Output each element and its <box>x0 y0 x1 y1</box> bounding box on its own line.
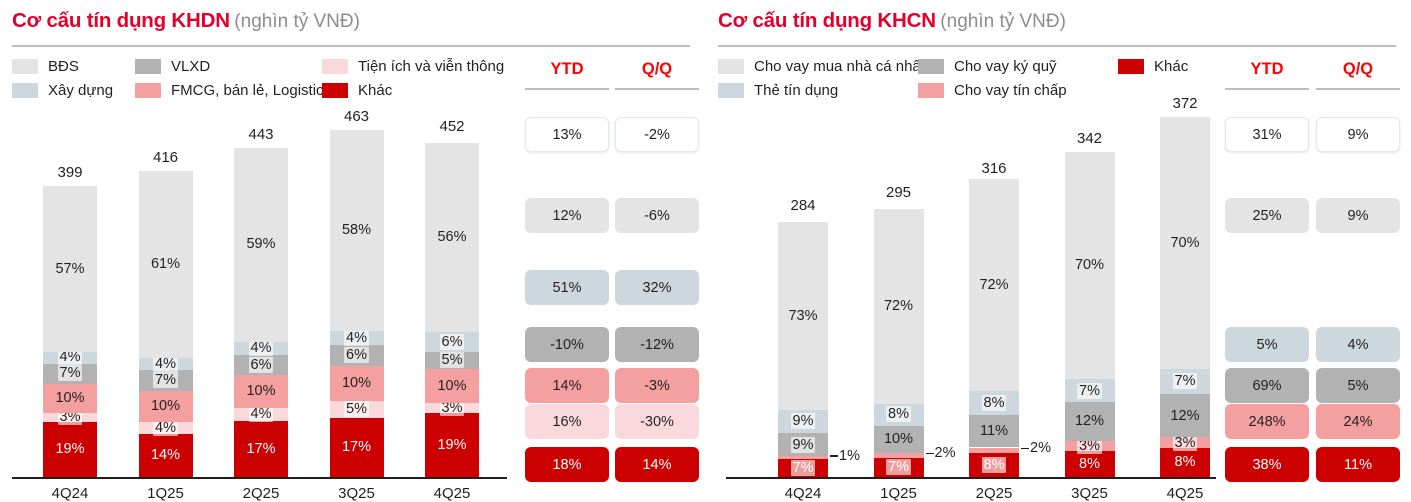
bar-segment[interactable]: 19% <box>425 413 479 477</box>
growth-badge[interactable]: 51% <box>525 270 609 305</box>
bar-segment[interactable]: 7% <box>43 364 97 384</box>
growth-badge[interactable]: 32% <box>615 270 699 305</box>
bar-segment-value: 1 <box>839 448 847 464</box>
growth-badge[interactable]: 5% <box>1316 368 1400 403</box>
growth-badge[interactable]: 12% <box>525 198 609 233</box>
bar-segment[interactable]: 4% <box>234 408 288 421</box>
bar-segment-value-wrap: 12% <box>1075 414 1104 429</box>
bar-segment-callout: 1% <box>830 448 860 464</box>
growth-badge[interactable]: 4% <box>1316 327 1400 362</box>
bar-column[interactable]: 8%3%12%7%70% <box>1065 152 1115 477</box>
bar-segment[interactable]: 10% <box>43 384 97 413</box>
bar-segment-value-wrap: 8% <box>982 396 1007 411</box>
bar-total-label: 284 <box>756 197 850 214</box>
bar-segment-value-wrap: 9% <box>791 438 816 453</box>
bar-segment-callout: 2% <box>926 445 956 461</box>
bar-segment-value-wrap: 70% <box>1170 236 1199 251</box>
growth-column-header: Q/Q <box>1313 60 1403 79</box>
x-axis-tick-label: 2Q25 <box>212 485 310 502</box>
bar-total-label: 399 <box>21 164 119 181</box>
growth-badge-value: 69% <box>1252 378 1281 394</box>
bar-segment[interactable]: 72% <box>969 179 1019 391</box>
growth-badge[interactable]: 69% <box>1225 368 1309 403</box>
growth-badge[interactable]: -12% <box>615 327 699 362</box>
growth-badge-value: -2% <box>644 127 670 143</box>
bar-segment-value: 4% <box>344 330 369 346</box>
bar-segment-value-wrap: 12% <box>1170 409 1199 424</box>
bar-segment-value-wrap: 19% <box>437 438 466 453</box>
bar-segment[interactable]: 9% <box>778 410 828 433</box>
bar-segment-value-wrap: 10% <box>342 376 371 391</box>
bar-segment-value-wrap: 14% <box>151 448 180 463</box>
bar-segment-value-wrap: 7% <box>58 366 83 381</box>
bar-segment[interactable]: 8% <box>969 391 1019 415</box>
growth-badge-value: 51% <box>552 280 581 296</box>
bar-segment-value: 4% <box>153 356 178 372</box>
bar-segment[interactable]: 6% <box>425 332 479 352</box>
bar-segment[interactable]: 59% <box>234 148 288 342</box>
bar-segment[interactable]: 10% <box>139 391 193 422</box>
bar-segment[interactable]: 12% <box>1160 394 1210 437</box>
bar-segment[interactable]: 7% <box>1160 369 1210 394</box>
bar-segment-value-wrap: 5% <box>344 402 369 417</box>
growth-badge[interactable]: 18% <box>525 447 609 482</box>
bar-segment[interactable]: 73% <box>778 222 828 410</box>
bar-segment-value-wrap: 4% <box>249 407 274 422</box>
bar-column[interactable]: 7%9%9%73% <box>778 219 828 477</box>
bar-segment-value: 7% <box>1077 383 1102 399</box>
bar-segment-value: 6% <box>344 347 369 363</box>
bar-total-label: 452 <box>403 118 501 135</box>
bar-total-label: 316 <box>947 160 1041 177</box>
growth-badge[interactable]: 248% <box>1225 404 1309 439</box>
growth-badge-value: 32% <box>642 280 671 296</box>
bar-segment-value-wrap: 10% <box>246 384 275 399</box>
bar-segment[interactable]: 4% <box>139 422 193 434</box>
x-axis-tick-label: 4Q24 <box>21 485 119 502</box>
bar-segment-value-wrap: 4% <box>58 350 83 365</box>
panel-khdn: Cơ cấu tín dụng KHDN (nghìn tỷ VNĐ)BĐSXâ… <box>0 0 705 502</box>
bar-segment-value-wrap: 19% <box>55 442 84 457</box>
bar-segment-value-wrap: 4% <box>153 357 178 372</box>
bar-column[interactable]: 14%4%10%7%4%61% <box>139 171 193 477</box>
bar-segment[interactable]: 5% <box>330 401 384 418</box>
growth-badge-value: 12% <box>552 208 581 224</box>
bar-segment-value: 4% <box>153 420 178 436</box>
bar-segment-value-wrap: 10% <box>437 379 466 394</box>
growth-badge[interactable]: 16% <box>525 404 609 439</box>
growth-badge[interactable]: -2% <box>615 117 699 152</box>
growth-badge[interactable]: -6% <box>615 198 699 233</box>
growth-column-header: YTD <box>1222 60 1312 79</box>
growth-badge-value: -6% <box>644 208 670 224</box>
bar-segment[interactable]: 19% <box>43 422 97 477</box>
bar-segment-value-wrap: 72% <box>979 278 1008 293</box>
bar-segment[interactable]: 4% <box>234 342 288 355</box>
growth-column-divider <box>615 88 699 90</box>
bar-segment-value-wrap: 4% <box>249 341 274 356</box>
x-axis-tick-label: 4Q25 <box>403 485 501 502</box>
bar-segment[interactable]: 7% <box>874 458 924 477</box>
bar-segment[interactable]: 10% <box>425 369 479 403</box>
growth-badge-value: 18% <box>552 457 581 473</box>
bar-segment-value-wrap: 4% <box>153 421 178 436</box>
bar-segment-value: 7% <box>1173 373 1198 389</box>
bar-segment[interactable]: 8% <box>969 453 1019 477</box>
bar-segment-value: 2 <box>1030 440 1038 456</box>
bar-segment-value: 8% <box>886 406 911 422</box>
bar-segment-value: 8% <box>982 395 1007 411</box>
bar-segment-value: 9% <box>791 413 816 429</box>
bar-segment-value-wrap: 17% <box>342 440 371 455</box>
bar-segment-value-wrap: 6% <box>249 358 274 373</box>
bar-segment-value-wrap: 8% <box>1175 455 1196 470</box>
x-axis-tick-label: 3Q25 <box>308 485 406 502</box>
growth-badge-value: -10% <box>550 337 584 353</box>
bar-column[interactable]: 17%5%10%6%4%58% <box>330 130 384 477</box>
bar-segment[interactable]: 17% <box>330 418 384 477</box>
bar-segment[interactable]: 3% <box>425 403 479 413</box>
bar-segment-callout: 2% <box>1021 440 1051 456</box>
bar-segment-value: 7% <box>153 372 178 388</box>
growth-column-divider <box>1316 88 1400 90</box>
bar-segment[interactable]: 10% <box>874 426 924 453</box>
bar-segment[interactable] <box>969 448 1019 454</box>
bar-segment-value-wrap: 4% <box>344 331 369 346</box>
x-axis-tick-label: 2Q25 <box>947 485 1041 502</box>
bar-segment-value: 4% <box>249 340 274 356</box>
growth-badge[interactable]: 31% <box>1225 117 1309 152</box>
bar-segment-value: 2 <box>935 445 943 461</box>
x-axis-line <box>726 477 1216 479</box>
x-axis-tick-label: 4Q25 <box>1138 485 1232 502</box>
growth-badge[interactable]: 9% <box>1316 117 1400 152</box>
growth-badge[interactable]: 24% <box>1316 404 1400 439</box>
bar-segment-value-wrap: 8% <box>982 458 1007 473</box>
bar-segment[interactable]: 7% <box>139 370 193 391</box>
growth-badge-value: 5% <box>1257 337 1278 353</box>
bar-total-label: 443 <box>212 126 310 143</box>
bar-segment[interactable]: 7% <box>1065 379 1115 402</box>
bar-segment[interactable]: 8% <box>1065 451 1115 477</box>
x-axis-tick-label: 4Q24 <box>756 485 850 502</box>
bar-segment[interactable]: 6% <box>234 355 288 375</box>
growth-badge[interactable]: -3% <box>615 368 699 403</box>
bar-segment[interactable]: 3% <box>43 413 97 422</box>
bar-segment-value: 7% <box>58 365 83 381</box>
bar-segment[interactable]: 8% <box>1160 448 1210 477</box>
growth-column-divider <box>525 88 609 90</box>
bar-segment-value-wrap: 8% <box>1079 457 1100 472</box>
growth-badge[interactable]: 25% <box>1225 198 1309 233</box>
growth-badge-value: 24% <box>1343 414 1372 430</box>
growth-badge-value: 31% <box>1252 127 1281 143</box>
bar-segment-value-wrap: 61% <box>151 257 180 272</box>
bar-segment[interactable]: 12% <box>1065 402 1115 441</box>
bar-segment-value-wrap: 6% <box>440 335 465 350</box>
bar-column[interactable]: 8%3%12%7%70% <box>1160 117 1210 477</box>
bar-segment-value-wrap: 7% <box>1077 384 1102 399</box>
bar-segment-value-wrap: 56% <box>437 230 466 245</box>
bar-segment-value-wrap: 70% <box>1075 258 1104 273</box>
growth-badge-value: 38% <box>1252 457 1281 473</box>
growth-badge[interactable]: 14% <box>525 368 609 403</box>
growth-badge-value: 25% <box>1252 208 1281 224</box>
bar-segment[interactable]: 56% <box>425 143 479 332</box>
bar-segment[interactable]: 9% <box>778 433 828 456</box>
bar-segment[interactable]: 57% <box>43 186 97 352</box>
x-axis-tick-label: 1Q25 <box>852 485 946 502</box>
growth-badge[interactable]: 5% <box>1225 327 1309 362</box>
growth-badge-value: -30% <box>640 414 674 430</box>
callout-leader-line <box>830 455 838 457</box>
bar-total-label: 295 <box>852 184 946 201</box>
growth-badge-value: 4% <box>1348 337 1369 353</box>
bar-column[interactable]: 17%4%10%6%4%59% <box>234 148 288 478</box>
bar-segment-value-wrap: 10% <box>55 391 84 406</box>
growth-badge[interactable]: 9% <box>1316 198 1400 233</box>
growth-badge-value: -12% <box>640 337 674 353</box>
bar-segment-value: 9% <box>791 437 816 453</box>
growth-badge[interactable]: -30% <box>615 404 699 439</box>
bar-segment-value-wrap: 10% <box>151 399 180 414</box>
bar-segment-value: 8% <box>982 457 1007 473</box>
growth-badge-value: 13% <box>552 127 581 143</box>
bar-segment[interactable]: 5% <box>425 352 479 369</box>
growth-badge-value: 14% <box>552 378 581 394</box>
callout-leader-line <box>926 453 934 455</box>
growth-badge[interactable]: 13% <box>525 117 609 152</box>
bar-segment-value-wrap: 58% <box>342 223 371 238</box>
bar-column[interactable]: 19%3%10%7%4%57% <box>43 186 97 477</box>
bar-segment[interactable]: 14% <box>139 434 193 477</box>
growth-column-header: Q/Q <box>612 60 702 79</box>
growth-column-header: YTD <box>522 60 612 79</box>
growth-badge-value: 14% <box>642 457 671 473</box>
bar-segment-value-wrap: 59% <box>246 237 275 252</box>
bar-segment[interactable]: 8% <box>874 404 924 426</box>
bar-segment-value-wrap: 9% <box>791 414 816 429</box>
x-axis-line <box>12 477 507 479</box>
growth-badge-value: 9% <box>1348 127 1369 143</box>
bar-segment-value: 4% <box>249 406 274 422</box>
bar-segment[interactable]: 11% <box>969 415 1019 447</box>
bar-total-label: 372 <box>1138 95 1232 112</box>
bar-segment-value-wrap: 6% <box>344 348 369 363</box>
bar-segment-value-wrap: 10% <box>884 432 913 447</box>
bar-segment[interactable]: 17% <box>234 421 288 477</box>
x-axis-tick-label: 3Q25 <box>1043 485 1137 502</box>
bar-segment-value-wrap: 3% <box>1173 436 1198 451</box>
bar-segment-value-wrap: 72% <box>884 299 913 314</box>
bar-segment-value-wrap: 11% <box>980 424 1008 439</box>
bar-segment[interactable]: 58% <box>330 130 384 331</box>
bar-total-label: 342 <box>1043 130 1137 147</box>
bar-segment-value-wrap: 7% <box>153 373 178 388</box>
bar-segment[interactable]: 72% <box>874 209 924 404</box>
bar-segment[interactable]: 3% <box>1160 437 1210 448</box>
bar-segment[interactable]: 10% <box>330 366 384 401</box>
bar-segment[interactable]: 70% <box>1160 117 1210 369</box>
bar-segment-value-wrap: 8% <box>886 407 911 422</box>
bar-segment[interactable] <box>874 453 924 458</box>
bar-segment-value: 7% <box>791 460 816 476</box>
bar-segment-value: 6% <box>249 357 274 373</box>
panel-khcn: Cơ cấu tín dụng KHCN (nghìn tỷ VNĐ)Cho v… <box>706 0 1411 502</box>
growth-badge-value: 11% <box>1344 457 1372 473</box>
bar-total-label: 416 <box>117 149 215 166</box>
bar-column[interactable]: 7%10%8%72% <box>874 206 924 477</box>
bar-segment[interactable]: 70% <box>1065 152 1115 380</box>
bar-segment-value: 5% <box>440 352 465 368</box>
growth-badge[interactable]: 38% <box>1225 447 1309 482</box>
bar-segment[interactable] <box>778 456 828 459</box>
bar-segment-value: 6% <box>440 334 465 350</box>
bar-column[interactable]: 19%3%10%5%6%56% <box>425 140 479 477</box>
growth-badge-value: 248% <box>1248 414 1285 430</box>
bar-column[interactable]: 8%11%8%72% <box>969 182 1019 477</box>
bar-segment[interactable]: 6% <box>330 345 384 366</box>
growth-badge[interactable]: -10% <box>525 327 609 362</box>
growth-badge-value: 9% <box>1348 208 1369 224</box>
growth-badge-value: 5% <box>1348 378 1369 394</box>
bar-segment-value-wrap: 5% <box>440 353 465 368</box>
bar-segment[interactable]: 4% <box>139 358 193 370</box>
bar-segment-value: 7% <box>886 459 911 475</box>
bar-segment-value-wrap: 7% <box>791 461 816 476</box>
bar-segment[interactable]: 3% <box>1065 441 1115 451</box>
bar-segment[interactable]: 4% <box>43 352 97 364</box>
bar-segment-value-wrap: 17% <box>246 442 275 457</box>
bar-segment-value-wrap: 57% <box>55 262 84 277</box>
x-axis-tick-label: 1Q25 <box>117 485 215 502</box>
bar-segment[interactable]: 4% <box>330 331 384 345</box>
bar-segment-value-wrap: 7% <box>886 460 911 475</box>
growth-column-divider <box>1225 88 1309 90</box>
bar-segment-value-wrap: 73% <box>788 309 817 324</box>
growth-badge[interactable]: 14% <box>615 447 699 482</box>
bar-total-label: 463 <box>308 108 406 125</box>
bar-segment-value: 5% <box>344 401 369 417</box>
bar-segment[interactable]: 10% <box>234 375 288 408</box>
bar-segment-value-wrap: 7% <box>1173 374 1198 389</box>
growth-badge[interactable]: 11% <box>1316 447 1400 482</box>
growth-badge-value: 16% <box>552 414 581 430</box>
bar-segment-value-wrap: 3% <box>440 401 465 416</box>
growth-badge-value: -3% <box>644 378 670 394</box>
bar-segment[interactable]: 61% <box>139 171 193 358</box>
bar-segment[interactable]: 7% <box>778 459 828 477</box>
callout-leader-line <box>1021 448 1029 450</box>
